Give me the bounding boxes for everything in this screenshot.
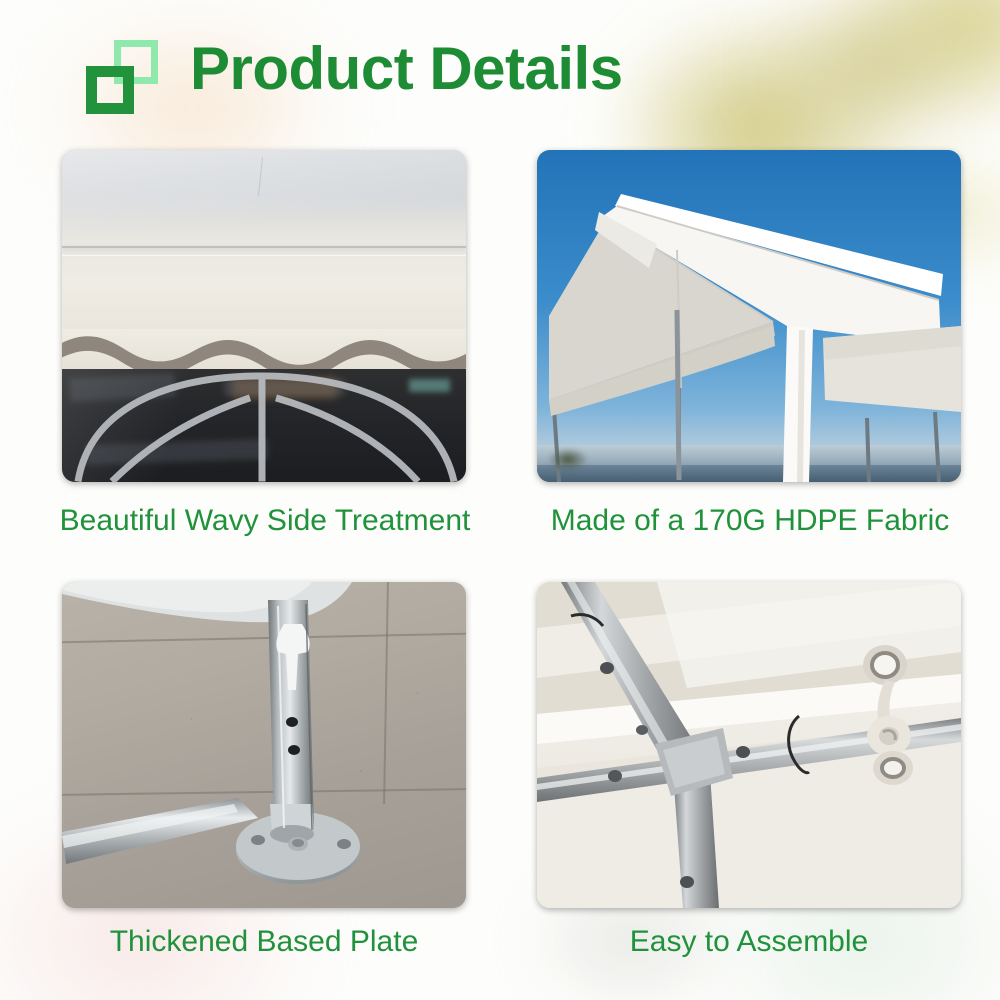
frame-joint-photo [537, 582, 961, 908]
page-header: Product Details [0, 0, 1000, 140]
caption-wavy-side: Beautiful Wavy Side Treatment [20, 504, 510, 538]
caption-easy-assemble: Easy to Assemble [537, 925, 961, 959]
caption-based-plate: Thickened Based Plate [62, 925, 466, 959]
product-photo-panel-hdpe-fabric [537, 150, 961, 482]
canopy-roof-fabric [62, 150, 466, 329]
product-photo-panel-based-plate [62, 582, 466, 908]
product-photo-panel-easy-assemble [537, 582, 961, 908]
page-title: Product Details [190, 34, 623, 103]
caption-hdpe-fabric: Made of a 170G HDPE Fabric [510, 504, 990, 538]
canopy-hdpe-fabric-photo [537, 150, 961, 482]
product-details-page: Product Details [0, 0, 1000, 1000]
product-photo-panel-wavy-side [62, 150, 466, 482]
steel-leg-and-base-plate-icon [62, 582, 466, 908]
foreground-tree [541, 436, 600, 476]
arched-window-frame-icon [62, 362, 466, 482]
roof-seam-line [62, 246, 466, 248]
roof-seam-highlight [62, 255, 466, 256]
tent-frame-joint-icon [537, 582, 961, 908]
brand-squares-logo-icon [86, 40, 160, 114]
logo-dark-square-notch-icon [123, 88, 134, 99]
roof-crease [258, 157, 263, 196]
tent-canopy-structure-icon [537, 150, 961, 482]
base-plate-photo [62, 582, 466, 908]
canopy-wavy-side-photo [62, 150, 466, 482]
